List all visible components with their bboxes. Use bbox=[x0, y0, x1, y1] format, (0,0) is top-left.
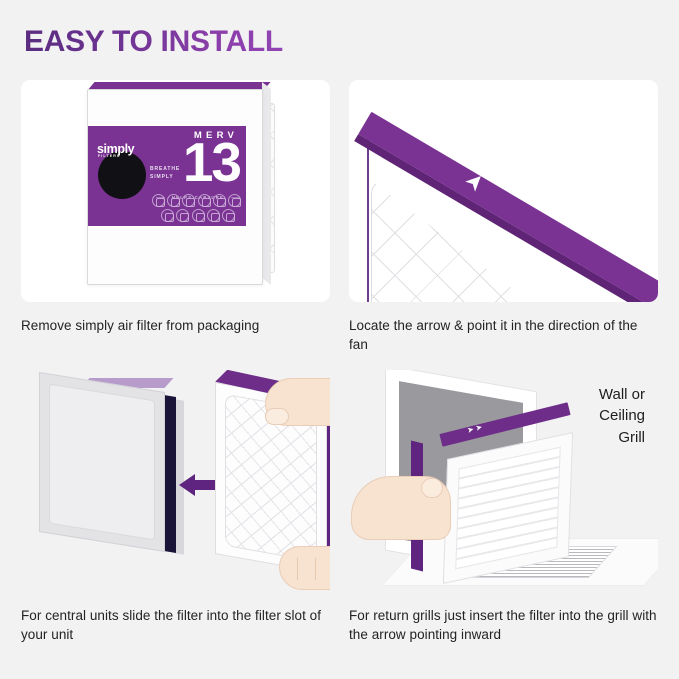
filter-edge-illustration: ➤ ➤ bbox=[349, 80, 658, 302]
unit-front-panel bbox=[49, 384, 155, 541]
easy-to-install-infographic: EASY TO INSTALL bbox=[0, 0, 679, 679]
grill-louvers bbox=[455, 447, 560, 570]
pollution-icon bbox=[161, 209, 174, 222]
capture-icons bbox=[152, 194, 244, 224]
grill-label-line-3: Grill bbox=[599, 427, 645, 448]
thumb bbox=[421, 478, 443, 498]
step-2: ➤ ➤ Locate the arrow & point it in the d… bbox=[339, 80, 678, 356]
finger-crease-2 bbox=[315, 558, 316, 580]
step-3-illustration-card: ➤➤ bbox=[21, 370, 330, 592]
pet-dander-icon bbox=[213, 194, 226, 207]
central-unit-illustration: ➤➤ bbox=[21, 370, 330, 592]
step-3: ➤➤ For central units slide the filter in… bbox=[0, 370, 339, 646]
tagline: BREATHE SIMPLY bbox=[150, 166, 180, 182]
brand-subtitle: FILTERS bbox=[98, 155, 120, 159]
thumb-upper bbox=[265, 408, 289, 425]
unit-filter-slot bbox=[164, 395, 176, 553]
smoke-icon bbox=[198, 194, 211, 207]
grill-label-line-1: Wall or bbox=[599, 384, 645, 405]
filter-package-illustration: simply FILTERS BREATHE SIMPLY MERV 13 bbox=[79, 89, 287, 294]
merv-value: 13 bbox=[183, 135, 240, 190]
tagline-line-1: BREATHE bbox=[150, 166, 180, 174]
steps-row-1: simply FILTERS BREATHE SIMPLY MERV 13 bbox=[0, 80, 679, 356]
step-4: ➤➤ Wall or Ceiling Grill For return gril… bbox=[339, 370, 678, 646]
steps-row-2: ➤➤ For central units slide the filter in… bbox=[0, 370, 679, 646]
step-1-illustration-card: simply FILTERS BREATHE SIMPLY MERV 13 bbox=[21, 80, 330, 302]
dust-icon bbox=[167, 194, 180, 207]
step-4-illustration-card: ➤➤ Wall or Ceiling Grill bbox=[349, 370, 658, 592]
steps-grid: simply FILTERS BREATHE SIMPLY MERV 13 bbox=[0, 80, 679, 646]
grill-label-line-2: Ceiling bbox=[599, 405, 645, 426]
page-title: EASY TO INSTALL bbox=[24, 27, 283, 57]
step-1-caption: Remove simply air filter from packaging bbox=[21, 316, 330, 356]
step-4-caption: For return grills just insert the filter… bbox=[349, 606, 658, 646]
virus-icon bbox=[176, 209, 189, 222]
bacteria-icon bbox=[228, 194, 241, 207]
return-grill-illustration: ➤➤ Wall or Ceiling Grill bbox=[349, 370, 658, 592]
mold-icon bbox=[182, 194, 195, 207]
capture-icons-row-2 bbox=[152, 209, 244, 222]
box-purple-label-band: simply FILTERS BREATHE SIMPLY MERV 13 bbox=[88, 126, 246, 226]
tagline-line-2: SIMPLY bbox=[150, 174, 180, 182]
capture-icons-row-1 bbox=[152, 194, 244, 207]
pollen-icon bbox=[152, 194, 165, 207]
finger-crease-1 bbox=[297, 558, 298, 580]
central-unit-body bbox=[39, 372, 165, 552]
step-2-caption: Locate the arrow & point it in the direc… bbox=[349, 316, 658, 356]
box-side-panel bbox=[262, 82, 271, 285]
lint-icon bbox=[192, 209, 205, 222]
hand-lower bbox=[279, 546, 330, 590]
step-2-illustration-card: ➤ ➤ bbox=[349, 80, 658, 302]
odor-icon bbox=[207, 209, 220, 222]
grill-label: Wall or Ceiling Grill bbox=[599, 384, 645, 448]
step-1: simply FILTERS BREATHE SIMPLY MERV 13 bbox=[0, 80, 339, 356]
filter-box-front: simply FILTERS BREATHE SIMPLY MERV 13 bbox=[87, 89, 263, 285]
insert-arrow-tail bbox=[194, 480, 216, 490]
step-3-caption: For central units slide the filter into … bbox=[21, 606, 330, 646]
allergen-icon bbox=[222, 209, 235, 222]
left-arrow-icon bbox=[179, 474, 195, 496]
